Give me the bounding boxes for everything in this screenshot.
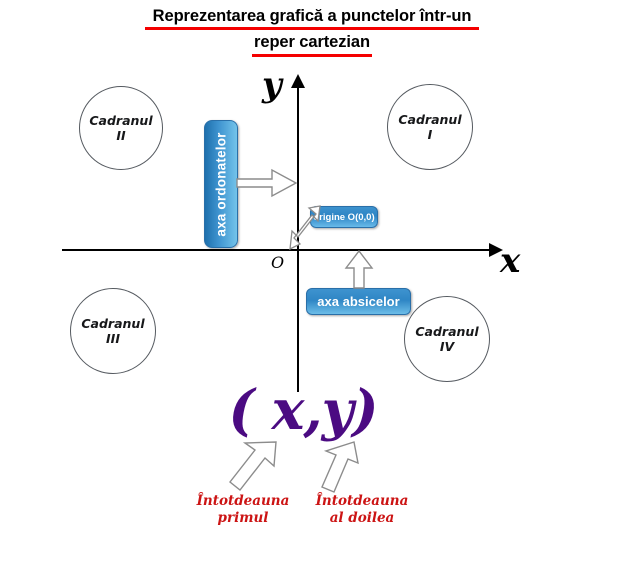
title-line-2-text: reper cartezian: [254, 33, 370, 51]
title-underline-1: [145, 27, 480, 30]
y-axis-label: y: [262, 68, 282, 102]
callout-axa-ordonatelor-label: axa ordonatelor: [214, 132, 229, 236]
quadrant-circle-ii: Cadranul II: [79, 86, 163, 170]
quadrant-circle-iv: Cadranul IV: [404, 296, 490, 382]
quadrant-iii-label: Cadranul III: [81, 316, 144, 346]
title-underline-2: [252, 54, 372, 57]
slide-canvas: Reprezentarea grafică a punctelor într-u…: [0, 0, 624, 562]
arrow-up-icon: [344, 250, 374, 290]
arrow-up-left-icon: [310, 440, 364, 500]
page-title: Reprezentarea grafică a punctelor într-u…: [0, 6, 624, 53]
arrow-down-left-icon: [288, 205, 322, 251]
arrow-right-icon: [236, 168, 298, 198]
title-line-1: Reprezentarea grafică a punctelor într-u…: [151, 6, 474, 27]
title-line-1-text: Reprezentarea grafică a punctelor într-u…: [153, 7, 472, 25]
y-axis-arrowhead-icon: [291, 74, 305, 88]
quadrant-ii-label: Cadranul II: [89, 113, 152, 143]
callout-axa-absicelor-label: axa absicelor: [317, 294, 399, 309]
origin-label: O: [271, 255, 284, 271]
arrow-up-right-icon: [228, 440, 282, 500]
callout-axa-absicelor: axa absicelor: [306, 288, 411, 315]
quadrant-iv-label: Cadranul IV: [415, 324, 478, 354]
x-axis-line: [62, 249, 496, 251]
callout-axa-ordonatelor: axa ordonatelor: [204, 120, 238, 248]
caption-first-coordinate: Întotdeauna primul: [178, 493, 308, 527]
x-axis-label: x: [500, 244, 520, 278]
callout-origine-label: origine O(0,0): [313, 212, 374, 223]
caption-second-coordinate: Întotdeauna al doilea: [297, 493, 427, 527]
coordinate-pair-expression: ( x,y): [213, 382, 393, 437]
title-line-2: reper cartezian: [252, 32, 372, 53]
quadrant-circle-iii: Cadranul III: [70, 288, 156, 374]
quadrant-i-label: Cadranul I: [398, 112, 461, 142]
quadrant-circle-i: Cadranul I: [387, 84, 473, 170]
